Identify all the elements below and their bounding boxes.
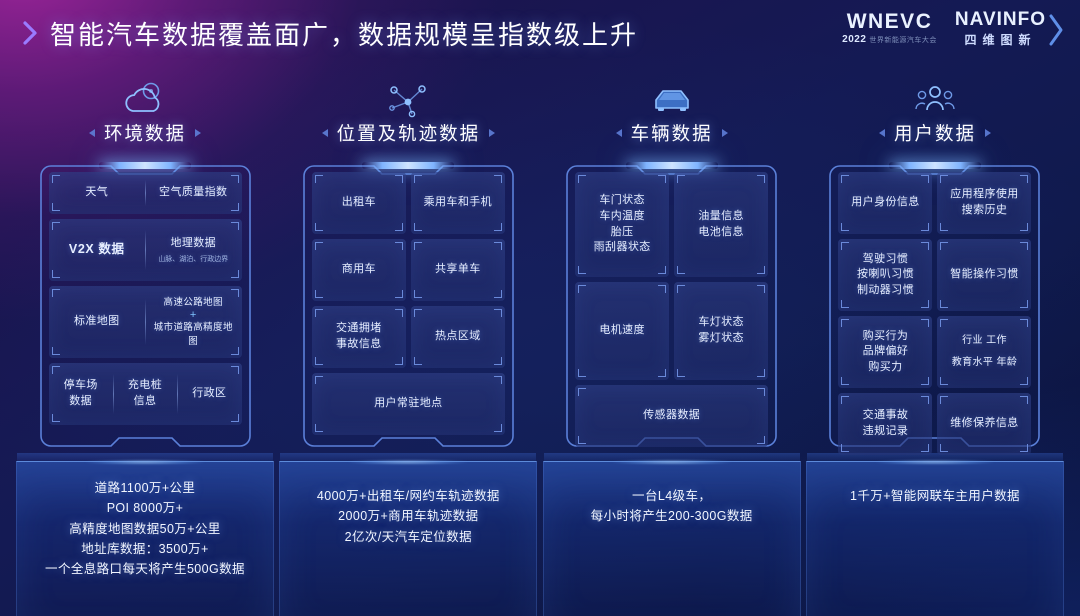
data-label-line: 制动器习惯 <box>857 283 914 299</box>
data-label-line: 购买力 <box>868 360 902 376</box>
summary-line: 地址库数据：3500万+ <box>17 539 273 559</box>
data-cell-row: 商用车 共享单车 <box>312 239 505 301</box>
data-label: 出租车 <box>312 172 406 234</box>
logo-group: WNEVC 2022 世界新能源汽车大会 NAVINFO 四维图新 <box>842 10 1062 46</box>
frame-environment: 天气 空气质量指数 V2X 数据 地理数据 山脉、湖泊、行政边界 <box>39 158 252 456</box>
data-label-line: 车门状态 <box>599 193 645 209</box>
data-cell[interactable]: 标准地图 高速公路地图 + 城市道路高精度地图 <box>49 286 242 358</box>
data-label: 应用程序使用 搜索历史 <box>937 172 1031 234</box>
data-cell-row: 交通拥堵 事故信息 热点区域 <box>312 306 505 368</box>
data-cell-row: 车门状态 车内温度 胎压 雨刮器状态 油量信息 电池信息 <box>575 172 768 277</box>
data-label: 行政区 <box>177 363 241 425</box>
summary-line: 4000万+出租车/网约车轨迹数据 <box>280 486 536 506</box>
data-cell[interactable]: 购买行为 品牌偏好 购买力 <box>838 316 932 388</box>
data-label: 维修保养信息 <box>937 393 1031 455</box>
frame-glow-bar <box>99 162 191 169</box>
data-cell-row: 驾驶习惯 按喇叭习惯 制动器习惯 智能操作习惯 <box>838 239 1031 311</box>
tick-right-icon <box>722 129 728 137</box>
column-title: 用户数据 <box>894 120 976 146</box>
data-label-line: 雨刮器状态 <box>594 240 651 256</box>
column-title-row-vehicle: 车辆数据 <box>616 120 728 146</box>
summary-line: 道路1100万+公里 <box>17 478 273 498</box>
data-cell[interactable]: 商用车 <box>312 239 406 301</box>
summary-pedestal-vehicle: 一台L4级车， 每小时将产生200-300G数据 <box>543 461 801 616</box>
summary-pedestal-environment: 道路1100万+公里 POI 8000万+ 高精度地图数据50万+公里 地址库数… <box>16 461 274 616</box>
summary-pedestal-location-trajectory: 4000万+出租车/网约车轨迹数据 2000万+商用车轨迹数据 2亿次/天汽车定… <box>279 461 537 616</box>
tick-left-icon <box>616 129 622 137</box>
data-label-text: 地理数据 <box>170 236 216 252</box>
data-label: 停车场 数据 <box>49 363 113 425</box>
summary-line: POI 8000万+ <box>17 498 273 518</box>
data-category-columns: 环境数据 天气 空气质量指数 <box>0 78 1080 467</box>
chevron-right-icon <box>22 18 40 48</box>
summary-pedestal-user: 1千万+智能网联车主用户数据 <box>806 461 1064 616</box>
summary-line: 1千万+智能网联车主用户数据 <box>807 486 1063 506</box>
data-label-line: 教育水平 年龄 <box>952 356 1018 370</box>
data-cell[interactable]: 热点区域 <box>411 306 505 368</box>
data-label-line: 车灯状态 <box>698 315 744 331</box>
navinfo-logo: NAVINFO 四维图新 <box>955 10 1062 46</box>
tick-left-icon <box>322 129 328 137</box>
data-label: 交通事故 违规记录 <box>838 393 932 455</box>
data-label-line: 驾驶习惯 <box>863 252 909 268</box>
data-label: 热点区域 <box>411 306 505 368</box>
data-label-line: 信息 <box>134 394 157 410</box>
data-cell[interactable]: 油量信息 电池信息 <box>674 172 768 277</box>
data-label-line: 充电桩 <box>128 378 162 394</box>
slide-root: 智能汽车数据覆盖面广，数据规模呈指数级上升 WNEVC 2022 世界新能源汽车… <box>0 0 1080 616</box>
plus-icon: + <box>190 309 197 321</box>
column-title-row-user: 用户数据 <box>879 120 991 146</box>
data-label: 标准地图 <box>49 286 146 358</box>
data-cell[interactable]: 交通事故 违规记录 <box>838 393 932 455</box>
navinfo-logo-sub-cn: 四维图新 <box>955 34 1046 46</box>
data-cell[interactable]: 用户身份信息 <box>838 172 932 234</box>
data-cell-row: 交通事故 违规记录 维修保养信息 <box>838 393 1031 455</box>
tick-right-icon <box>985 129 991 137</box>
column-title-row-location-trajectory: 位置及轨迹数据 <box>322 120 496 146</box>
frame-glow-bar <box>362 162 454 169</box>
data-label: 电机速度 <box>575 282 669 380</box>
data-cell[interactable]: 共享单车 <box>411 239 505 301</box>
data-cell-row: 电机速度 车灯状态 雾灯状态 <box>575 282 768 380</box>
data-cell[interactable]: 交通拥堵 事故信息 <box>312 306 406 368</box>
data-label-line: 违规记录 <box>863 424 909 440</box>
data-cell[interactable]: 停车场 数据 充电桩 信息 行政区 <box>49 363 242 425</box>
wnevc-logo: WNEVC 2022 世界新能源汽车大会 <box>842 11 937 45</box>
data-label: 行业 工作 教育水平 年龄 <box>937 316 1031 388</box>
column-title: 位置及轨迹数据 <box>337 120 481 146</box>
data-label: 共享单车 <box>411 239 505 301</box>
data-label-line: 交通拥堵 <box>336 321 382 337</box>
data-cell-row: 用户身份信息 应用程序使用 搜索历史 <box>838 172 1031 234</box>
data-label-line: 品牌偏好 <box>863 344 909 360</box>
data-label-line: 城市道路高精度地图 <box>149 321 238 348</box>
cloud-weather-icon <box>119 78 171 118</box>
car-icon <box>646 78 698 118</box>
summary-line: 一个全息路口每天将产生500G数据 <box>17 559 273 579</box>
frame-glow-bar <box>626 162 718 169</box>
data-label-line: 购买行为 <box>863 329 909 345</box>
data-label-line: 电池信息 <box>698 225 744 241</box>
user-group-icon <box>909 78 961 118</box>
data-label: 车门状态 车内温度 胎压 雨刮器状态 <box>575 172 669 277</box>
data-label: 用户常驻地点 <box>312 373 505 435</box>
data-label: 用户身份信息 <box>838 172 932 234</box>
summary-line: 每小时将产生200-300G数据 <box>544 506 800 526</box>
title-group: 智能汽车数据覆盖面广，数据规模呈指数级上升 <box>22 15 638 52</box>
tick-right-icon <box>195 129 201 137</box>
frame-vehicle: 车门状态 车内温度 胎压 雨刮器状态 油量信息 电池信息 <box>565 158 778 459</box>
data-label: 购买行为 品牌偏好 购买力 <box>838 316 932 388</box>
data-label: 高速公路地图 + 城市道路高精度地图 <box>145 286 242 358</box>
tick-left-icon <box>89 129 95 137</box>
wnevc-logo-year: 2022 <box>842 35 866 45</box>
wnevc-logo-sub-cn: 世界新能源汽车大会 <box>869 37 937 44</box>
column-title-row-environment: 环境数据 <box>89 120 201 146</box>
data-cell[interactable]: V2X 数据 地理数据 山脉、湖泊、行政边界 <box>49 219 242 281</box>
data-cell[interactable]: 乘用车和手机 <box>411 172 505 234</box>
frame-location-trajectory: 出租车 乘用车和手机 商用车 共享单车 <box>302 158 515 456</box>
data-label-subtext: 山脉、湖泊、行政边界 <box>158 255 228 264</box>
data-cell[interactable]: 行业 工作 教育水平 年龄 <box>937 316 1031 388</box>
data-label: V2X 数据 <box>49 219 146 281</box>
navinfo-logo-text: NAVINFO <box>955 10 1046 29</box>
data-label-line: 应用程序使用 <box>950 187 1018 203</box>
data-cell[interactable]: 用户常驻地点 <box>312 373 505 435</box>
summary-pedestal-row: 道路1100万+公里 POI 8000万+ 高精度地图数据50万+公里 地址库数… <box>0 461 1080 616</box>
data-label-line: 数据 <box>69 394 92 410</box>
data-cell[interactable]: 车灯状态 雾灯状态 <box>674 282 768 380</box>
data-label-line: 油量信息 <box>698 209 744 225</box>
tick-right-icon <box>489 129 495 137</box>
data-cell-row: 出租车 乘用车和手机 <box>312 172 505 234</box>
data-label-line: 事故信息 <box>336 337 382 353</box>
data-cell[interactable]: 天气 空气质量指数 <box>49 172 242 214</box>
slide-header: 智能汽车数据覆盖面广，数据规模呈指数级上升 WNEVC 2022 世界新能源汽车… <box>0 0 1080 66</box>
data-label-line: 高速公路地图 <box>164 296 223 309</box>
data-label: 空气质量指数 <box>145 172 242 214</box>
column-user: 用户数据 用户身份信息 <box>812 78 1058 467</box>
tick-left-icon <box>879 129 885 137</box>
data-cell-row: 购买行为 品牌偏好 购买力 行业 工作 教育水平 年龄 <box>838 316 1031 388</box>
summary-line: 2000万+商用车轨迹数据 <box>280 506 536 526</box>
data-label: 传感器数据 <box>575 385 768 447</box>
summary-line: 2亿次/天汽车定位数据 <box>280 527 536 547</box>
data-label: 天气 <box>49 172 146 214</box>
summary-line: 一台L4级车， <box>544 486 800 506</box>
column-vehicle: 车辆数据 车门状态 车内温度 胎压 <box>549 78 795 467</box>
column-environment: 环境数据 天气 空气质量指数 <box>22 78 268 467</box>
data-label: 地理数据 山脉、湖泊、行政边界 <box>145 219 242 281</box>
data-cell[interactable]: 应用程序使用 搜索历史 <box>937 172 1031 234</box>
data-cell[interactable]: 维修保养信息 <box>937 393 1031 455</box>
data-label: 商用车 <box>312 239 406 301</box>
data-label-text: V2X 数据 <box>69 241 125 259</box>
network-nodes-icon <box>382 78 434 118</box>
frame-glow-bar <box>889 162 981 169</box>
navinfo-chevron-right-icon <box>1048 12 1064 48</box>
data-label-line: 行业 工作 <box>962 334 1007 348</box>
data-label-line: 搜索历史 <box>962 203 1008 219</box>
data-label: 交通拥堵 事故信息 <box>312 306 406 368</box>
data-cell[interactable]: 智能操作习惯 <box>937 239 1031 311</box>
data-label: 油量信息 电池信息 <box>674 172 768 277</box>
data-label: 智能操作习惯 <box>937 239 1031 311</box>
data-cell[interactable]: 传感器数据 <box>575 385 768 447</box>
data-cell[interactable]: 电机速度 <box>575 282 669 380</box>
data-label-line: 交通事故 <box>863 408 909 424</box>
data-label-line: 按喇叭习惯 <box>857 267 914 283</box>
wnevc-logo-subtitle: 2022 世界新能源汽车大会 <box>842 35 937 45</box>
data-cell[interactable]: 驾驶习惯 按喇叭习惯 制动器习惯 <box>838 239 932 311</box>
summary-line: 高精度地图数据50万+公里 <box>17 519 273 539</box>
data-label-line: 停车场 <box>64 378 98 394</box>
column-location-trajectory: 位置及轨迹数据 出租车 乘用车和手机 <box>285 78 531 467</box>
data-label-line: 雾灯状态 <box>698 331 744 347</box>
wnevc-logo-text: WNEVC <box>842 11 937 32</box>
data-label-line: 胎压 <box>611 225 634 241</box>
data-cell[interactable]: 出租车 <box>312 172 406 234</box>
page-title: 智能汽车数据覆盖面广，数据规模呈指数级上升 <box>50 15 638 52</box>
data-label-line: 车内温度 <box>599 209 645 225</box>
frame-user: 用户身份信息 应用程序使用 搜索历史 驾驶习惯 <box>828 158 1041 467</box>
data-label: 驾驶习惯 按喇叭习惯 制动器习惯 <box>838 239 932 311</box>
data-label: 车灯状态 雾灯状态 <box>674 282 768 380</box>
data-label: 充电桩 信息 <box>113 363 177 425</box>
data-cell[interactable]: 车门状态 车内温度 胎压 雨刮器状态 <box>575 172 669 277</box>
data-label: 乘用车和手机 <box>411 172 505 234</box>
column-title: 环境数据 <box>104 120 186 146</box>
column-title: 车辆数据 <box>631 120 713 146</box>
